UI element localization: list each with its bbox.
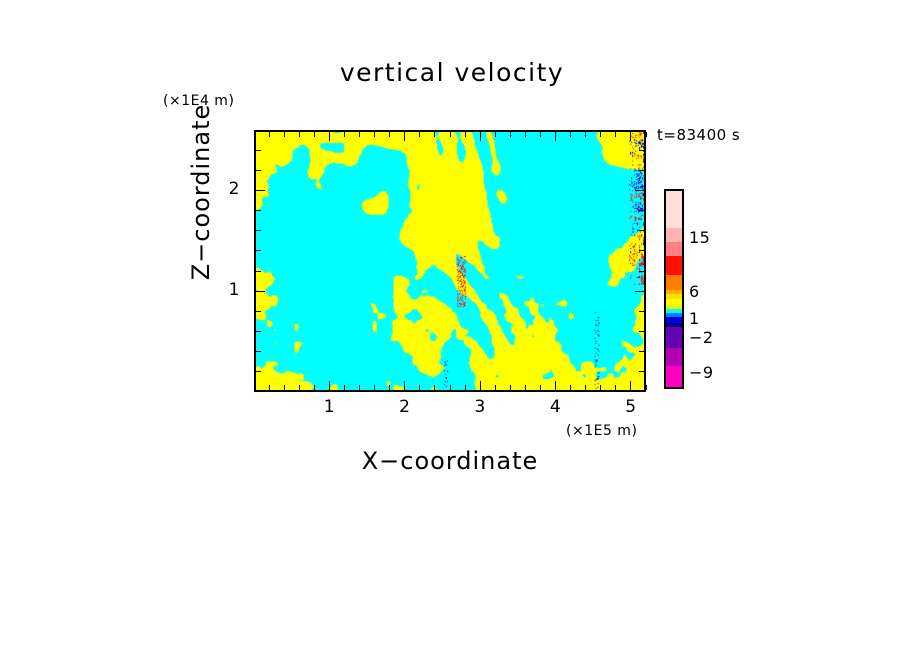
x-tick-label: 2 — [390, 397, 420, 417]
y-tick-minor — [256, 170, 261, 171]
x-tick-minor — [419, 385, 420, 390]
x-tick-minor — [314, 385, 315, 390]
colorbar-segment — [666, 348, 682, 367]
x-tick-minor-top — [269, 132, 270, 137]
y-tick-minor — [256, 250, 261, 251]
colorbar-segment — [666, 366, 682, 387]
y-axis-title: Z−coordinate — [187, 52, 215, 332]
y-tick-minor — [256, 150, 261, 151]
x-tick-minor-top — [540, 132, 541, 137]
x-tick-major-top — [329, 132, 330, 141]
y-tick-minor-right — [639, 331, 644, 332]
y-tick-major — [256, 190, 265, 191]
x-tick-minor — [344, 385, 345, 390]
colorbar-tick-label: 15 — [689, 228, 710, 247]
x-tick-minor — [299, 385, 300, 390]
x-tick-minor-top — [284, 132, 285, 137]
x-tick-minor-top — [450, 132, 451, 137]
x-tick-minor — [525, 385, 526, 390]
y-tick-label: 1 — [212, 280, 240, 300]
x-tick-minor-top — [495, 132, 496, 137]
x-tick-minor-top — [314, 132, 315, 137]
x-tick-major — [329, 381, 330, 390]
x-axis-title: X−coordinate — [254, 447, 646, 475]
x-tick-minor-top — [525, 132, 526, 137]
colorbar-segment — [666, 242, 682, 256]
x-tick-minor — [570, 385, 571, 390]
x-tick-label: 1 — [314, 397, 344, 417]
y-tick-major-right — [635, 291, 644, 292]
x-tick-major — [555, 381, 556, 390]
x-tick-minor — [389, 385, 390, 390]
time-annotation: t=83400 s — [657, 126, 740, 144]
y-tick-minor — [256, 130, 261, 131]
x-tick-major — [480, 381, 481, 390]
y-tick-minor-right — [639, 130, 644, 131]
x-tick-minor-top — [344, 132, 345, 137]
x-tick-minor — [269, 385, 270, 390]
y-tick-minor-right — [639, 371, 644, 372]
x-axis-unit-label: (×1E5 m) — [566, 423, 637, 439]
x-tick-minor — [510, 385, 511, 390]
x-tick-minor — [615, 385, 616, 390]
x-tick-minor — [600, 385, 601, 390]
y-tick-minor-right — [639, 150, 644, 151]
x-tick-minor — [646, 385, 647, 390]
x-tick-minor — [465, 385, 466, 390]
x-tick-minor-top — [570, 132, 571, 137]
y-tick-major — [256, 291, 265, 292]
colorbar-segment — [666, 228, 682, 242]
y-tick-label: 2 — [212, 179, 240, 199]
x-tick-label: 3 — [465, 397, 495, 417]
y-tick-minor-right — [639, 210, 644, 211]
y-tick-minor-right — [639, 351, 644, 352]
y-tick-minor — [256, 210, 261, 211]
x-tick-major-top — [555, 132, 556, 141]
colorbar-segment — [666, 256, 682, 275]
figure-canvas: vertical velocity (×1E4 m) 1234512 Z−coo… — [0, 0, 904, 654]
y-tick-minor-right — [639, 250, 644, 251]
x-tick-minor — [585, 385, 586, 390]
x-tick-minor — [495, 385, 496, 390]
x-tick-label: 4 — [541, 397, 571, 417]
x-tick-major-top — [404, 132, 405, 141]
y-tick-major-right — [635, 190, 644, 191]
y-tick-minor — [256, 351, 261, 352]
page-title: vertical velocity — [0, 58, 904, 87]
y-tick-minor-right — [639, 271, 644, 272]
x-tick-minor — [434, 385, 435, 390]
x-tick-minor — [374, 385, 375, 390]
plot-title-text: vertical velocity — [340, 58, 564, 87]
colorbar-tick-label: 1 — [689, 309, 700, 328]
y-tick-minor-right — [639, 230, 644, 231]
x-tick-minor-top — [600, 132, 601, 137]
x-tick-minor-top — [646, 132, 647, 137]
colorbar-segment — [666, 191, 682, 228]
x-tick-major — [630, 381, 631, 390]
x-tick-label: 5 — [616, 397, 646, 417]
x-tick-minor-top — [434, 132, 435, 137]
colorbar-segment — [666, 275, 682, 290]
y-tick-minor — [256, 331, 261, 332]
y-tick-minor — [256, 371, 261, 372]
x-tick-minor-top — [389, 132, 390, 137]
y-tick-minor-right — [639, 311, 644, 312]
colorbar[interactable] — [664, 189, 684, 389]
x-tick-minor-top — [510, 132, 511, 137]
x-tick-minor — [284, 385, 285, 390]
x-tick-minor — [450, 385, 451, 390]
x-tick-minor-top — [374, 132, 375, 137]
colorbar-tick-label: 6 — [689, 282, 700, 301]
x-tick-minor — [540, 385, 541, 390]
x-tick-major-top — [630, 132, 631, 141]
x-tick-minor-top — [615, 132, 616, 137]
x-tick-minor-top — [299, 132, 300, 137]
y-tick-minor — [256, 271, 261, 272]
y-tick-minor — [256, 230, 261, 231]
colorbar-tick-label: −2 — [689, 328, 714, 347]
colorbar-segment — [666, 327, 682, 348]
x-tick-minor-top — [585, 132, 586, 137]
x-tick-minor-top — [465, 132, 466, 137]
x-tick-major-top — [480, 132, 481, 141]
x-tick-major — [404, 381, 405, 390]
contour-field — [256, 132, 644, 390]
x-tick-minor-top — [419, 132, 420, 137]
colorbar-tick-label: −9 — [689, 363, 714, 382]
x-tick-minor-top — [359, 132, 360, 137]
y-tick-minor — [256, 311, 261, 312]
plot-area[interactable] — [254, 130, 646, 392]
y-tick-minor-right — [639, 170, 644, 171]
x-tick-minor — [359, 385, 360, 390]
